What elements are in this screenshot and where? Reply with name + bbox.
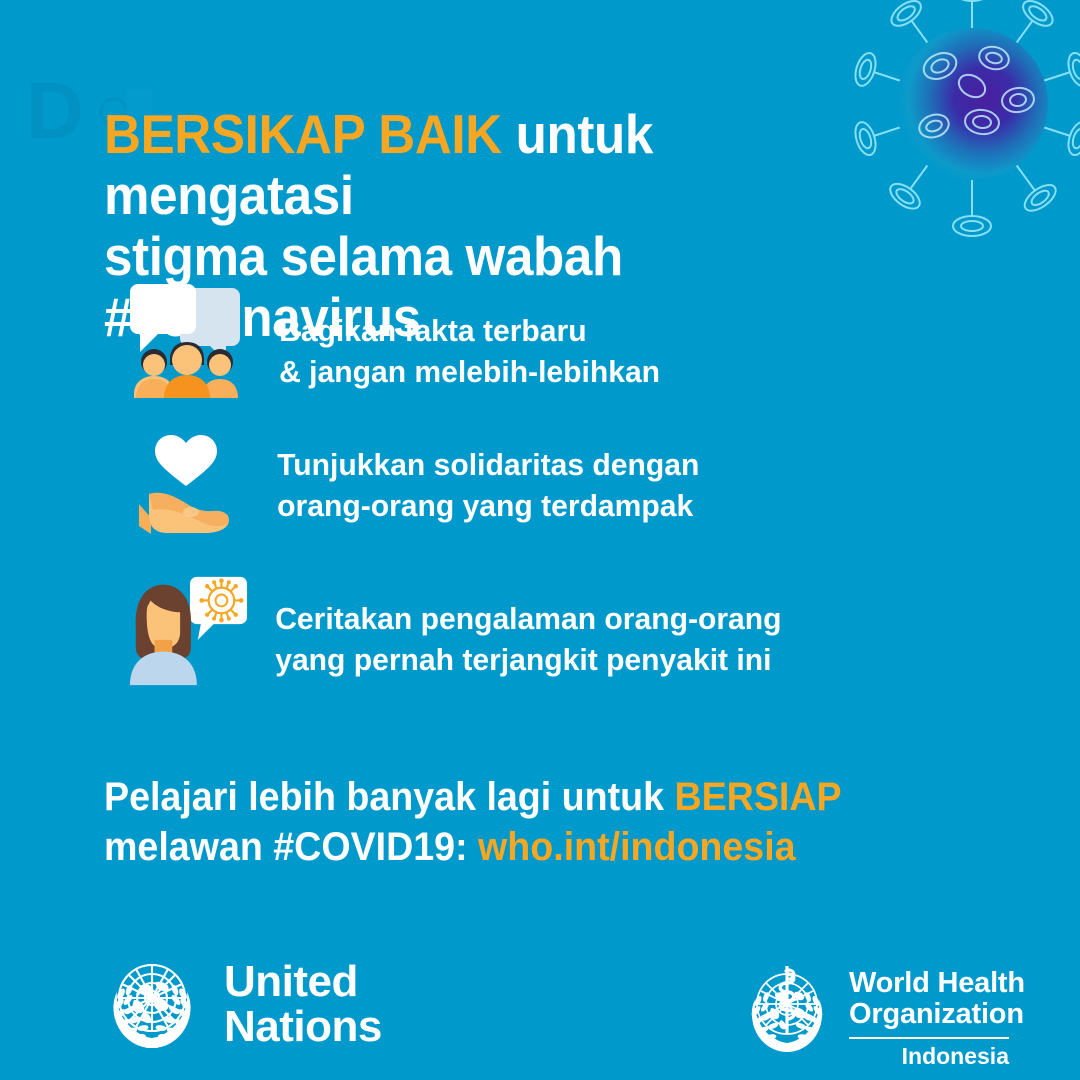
person-speech-bubble-virus-icon <box>124 570 250 686</box>
call-to-action: Pelajari lebih banyak lagi untuk BERSIAP… <box>104 772 931 872</box>
who-text-block: World Health Organization Indonesia <box>839 960 1025 1069</box>
cta-line1-plain: Pelajari lebih banyak lagi untuk <box>104 775 674 819</box>
poster-canvas: D <box>0 0 1080 1080</box>
cta-line1-accent: BERSIAP <box>674 775 841 819</box>
list-item: Tunjukkan solidaritas dengan orang-orang… <box>124 420 1004 570</box>
who-logo: World Health Organization Indonesia <box>735 960 1025 1069</box>
list-item: Ceritakan pengalaman orang-orang yang pe… <box>124 570 1004 700</box>
bullet-text: Bagikan fakta terbaru & jangan melebih-l… <box>250 278 660 392</box>
who-divider <box>849 1037 1009 1039</box>
website-link[interactable]: who.int/indonesia <box>478 825 796 869</box>
un-emblem-icon <box>96 952 208 1056</box>
headline-accent: BERSIKAP BAIK <box>104 103 502 165</box>
list-item: Bagikan fakta terbaru & jangan melebih-l… <box>124 278 1004 420</box>
un-logo: United Nations <box>96 952 382 1056</box>
cta-line2-plain: melawan #COVID19: <box>104 825 478 869</box>
bullet-text: Tunjukkan solidaritas dengan orang-orang… <box>250 420 699 526</box>
who-emblem-icon <box>735 960 839 1060</box>
bullet-icon-slot <box>124 570 250 686</box>
un-wordmark: United Nations <box>208 959 382 1049</box>
speech-bubbles-people-icon <box>128 280 246 398</box>
bullet-list: Bagikan fakta terbaru & jangan melebih-l… <box>124 278 1004 700</box>
who-country: Indonesia <box>849 1044 1009 1069</box>
svg-text:D: D <box>26 68 84 154</box>
bullet-icon-slot <box>124 420 250 540</box>
heart-in-hand-icon <box>131 432 243 540</box>
bullet-text: Ceritakan pengalaman orang-orang yang pe… <box>250 570 782 680</box>
bullet-icon-slot <box>124 278 250 398</box>
who-name: World Health Organization <box>849 968 1025 1030</box>
